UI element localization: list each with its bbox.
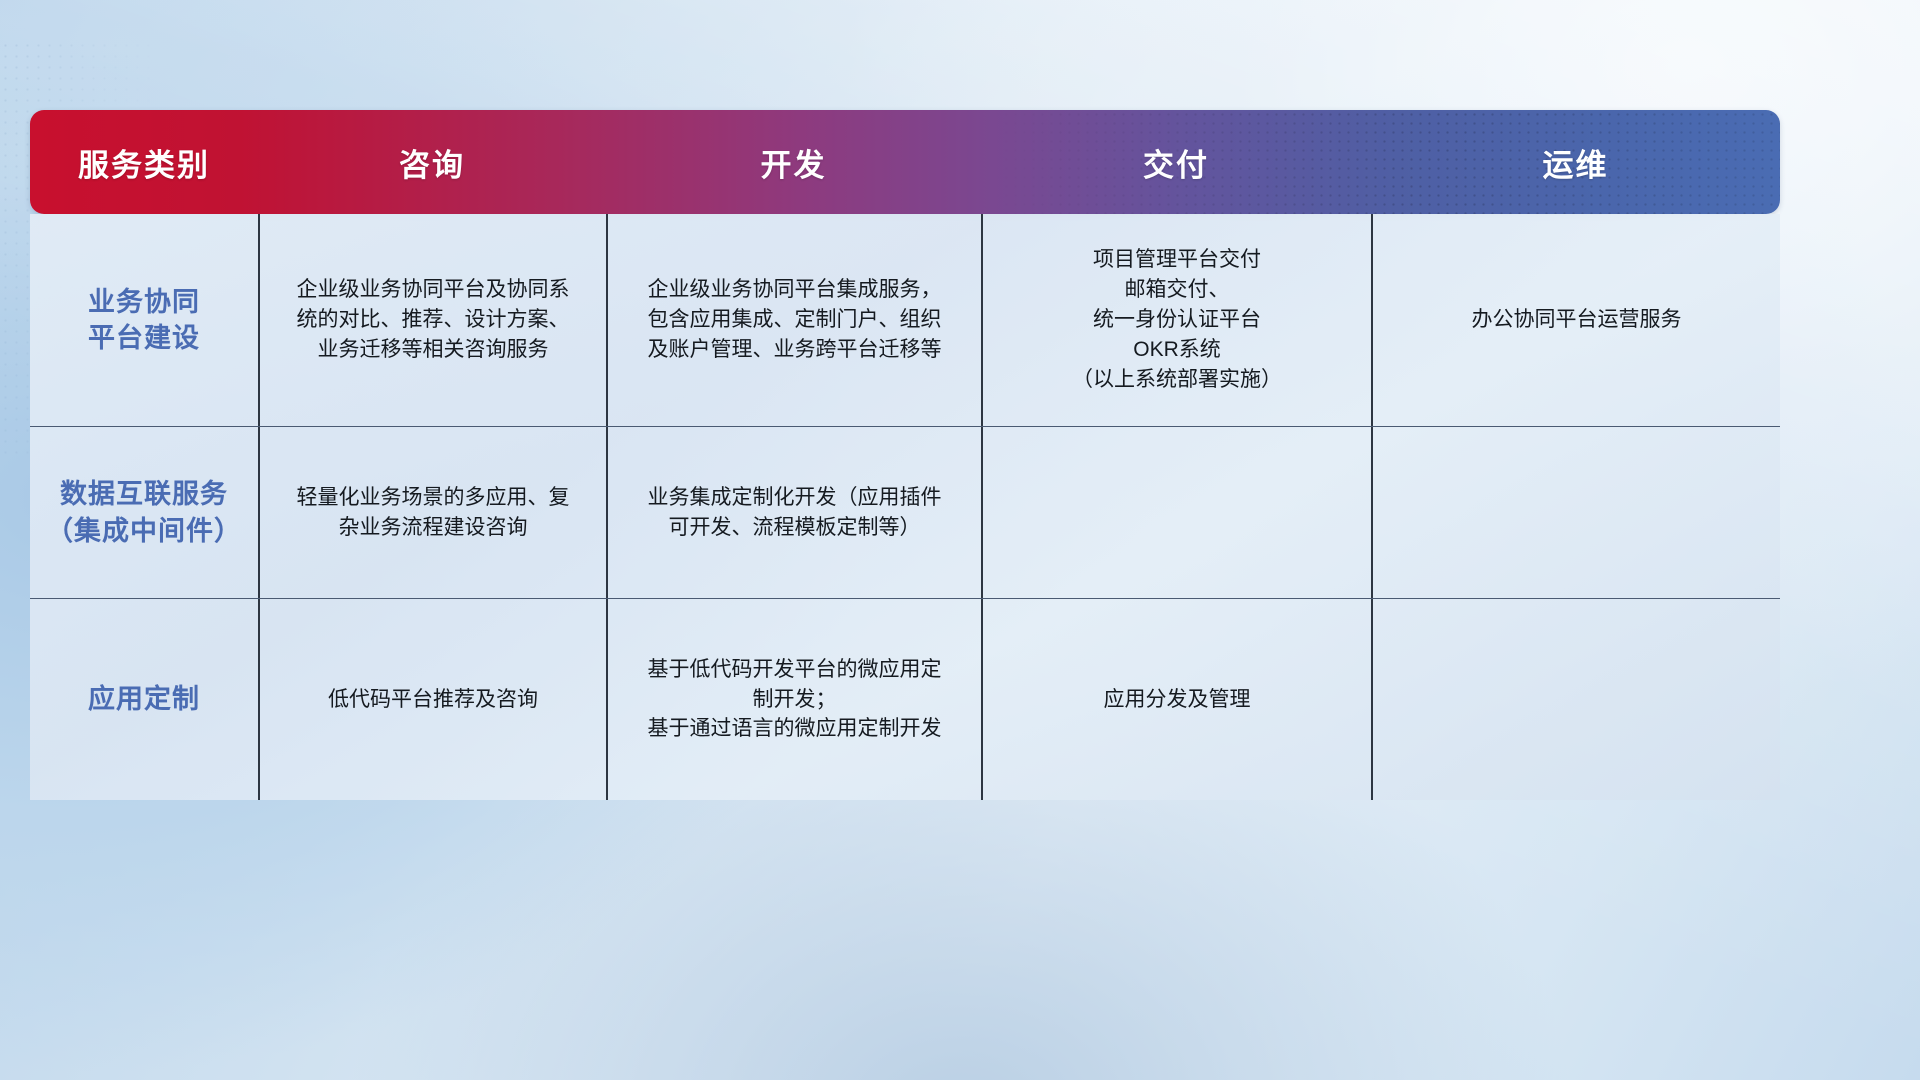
cell-operations-row-2 (1371, 427, 1780, 598)
table-row: 应用定制 低代码平台推荐及咨询 基于低代码开发平台的微应用定 制开发； 基于通过… (30, 598, 1780, 800)
table-body: 业务协同 平台建设 企业级业务协同平台及协同系 统的对比、推荐、设计方案、 业务… (30, 214, 1780, 800)
column-header-service-category: 服务类别 (30, 140, 258, 185)
row-label-business-collaboration-platform: 业务协同 平台建设 (30, 214, 258, 426)
cell-delivery-row-1: 项目管理平台交付 邮箱交付、 统一身份认证平台 OKR系统 （以上系统部署实施） (981, 214, 1371, 426)
row-label-application-customization: 应用定制 (30, 599, 258, 800)
cell-consulting-row-3: 低代码平台推荐及咨询 (258, 599, 606, 800)
cell-operations-row-1: 办公协同平台运营服务 (1371, 214, 1780, 426)
column-header-development: 开发 (606, 140, 981, 185)
cell-consulting-row-1: 企业级业务协同平台及协同系 统的对比、推荐、设计方案、 业务迁移等相关咨询服务 (258, 214, 606, 426)
cell-development-row-1: 企业级业务协同平台集成服务， 包含应用集成、定制门户、组织 及账户管理、业务跨平… (606, 214, 981, 426)
column-header-consulting: 咨询 (258, 140, 606, 185)
cell-consulting-row-2: 轻量化业务场景的多应用、复 杂业务流程建设咨询 (258, 427, 606, 598)
cell-delivery-row-2 (981, 427, 1371, 598)
cell-development-row-2: 业务集成定制化开发（应用插件 可开发、流程模板定制等） (606, 427, 981, 598)
table-header-row: 服务类别 咨询 开发 交付 运维 (30, 110, 1780, 214)
column-header-operations: 运维 (1371, 140, 1780, 185)
table-row: 数据互联服务 （集成中间件） 轻量化业务场景的多应用、复 杂业务流程建设咨询 业… (30, 426, 1780, 598)
cell-operations-row-3 (1371, 599, 1780, 800)
row-label-data-interconnection-service: 数据互联服务 （集成中间件） (30, 427, 258, 598)
table-row: 业务协同 平台建设 企业级业务协同平台及协同系 统的对比、推荐、设计方案、 业务… (30, 214, 1780, 426)
service-matrix-table: 服务类别 咨询 开发 交付 运维 业务协同 平台建设 企业级业务协同平台及协同系… (30, 110, 1780, 800)
column-header-delivery: 交付 (981, 140, 1371, 185)
cell-development-row-3: 基于低代码开发平台的微应用定 制开发； 基于通过语言的微应用定制开发 (606, 599, 981, 800)
cell-delivery-row-3: 应用分发及管理 (981, 599, 1371, 800)
